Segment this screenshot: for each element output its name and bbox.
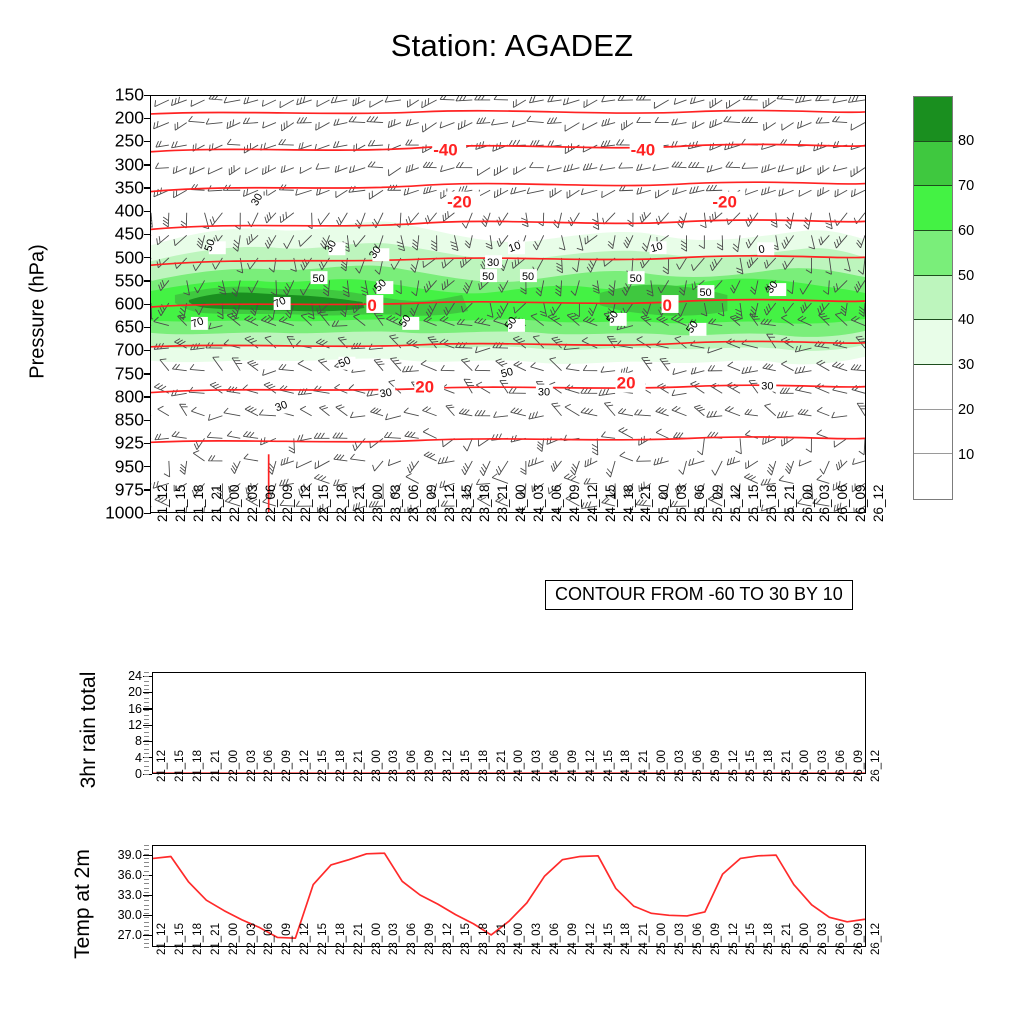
time-tick-label: 24_12 <box>585 923 597 955</box>
temperature-plot[interactable] <box>152 845 866 947</box>
sub-axis-minor-tick <box>144 866 149 867</box>
colorbar-tick-label: 20 <box>958 402 974 418</box>
time-tick-label: 25_00 <box>656 484 671 522</box>
sub-axis-minor-tick <box>144 858 149 859</box>
time-tick-label: 24_00 <box>513 923 525 955</box>
time-tick-label: 22_18 <box>335 750 347 782</box>
colorbar-band <box>914 320 952 365</box>
sub-axis-minor-tick <box>144 888 149 889</box>
time-tick-label: 26_00 <box>799 923 811 955</box>
colorbar-band <box>914 454 952 499</box>
time-tick-label: 21_12 <box>156 923 168 955</box>
sub-axis-tick <box>143 741 152 742</box>
pressure-tick-label: 500 <box>115 249 144 267</box>
pressure-tick-label: 700 <box>115 342 144 360</box>
sub-axis-minor-tick <box>144 732 149 733</box>
time-tick-label: 24_18 <box>620 750 632 782</box>
colorbar-labels: 8070605040302010 <box>958 96 1018 500</box>
time-tick-label: 26_09 <box>853 750 865 782</box>
time-tick-label: 22_03 <box>246 923 258 955</box>
sub-axis-minor-tick <box>144 710 149 711</box>
pressure-tick-label: 850 <box>115 411 144 429</box>
sub-axis-minor-tick <box>144 719 149 720</box>
sub-axis-tick-label: 27.0 <box>118 928 142 942</box>
time-tick-label: 24_00 <box>513 484 528 522</box>
time-tick-label: 23_06 <box>406 923 418 955</box>
time-tick-label: 25_00 <box>656 923 668 955</box>
time-tick-label: 24_12 <box>585 484 600 522</box>
pressure-tick <box>144 95 151 96</box>
time-tick-label: 23_03 <box>388 484 403 522</box>
pressure-tick <box>144 513 151 514</box>
time-tick-label: 21_15 <box>174 750 186 782</box>
time-tick-label: 25_15 <box>745 750 757 782</box>
pressure-tick-label: 550 <box>115 272 144 290</box>
sub-axis-minor-tick <box>144 934 149 935</box>
time-tick-label: 25_18 <box>763 923 775 955</box>
time-tick-label: 22_03 <box>246 750 258 782</box>
pressure-tick-label: 950 <box>115 458 144 476</box>
pressure-tick-label: 975 <box>115 481 144 499</box>
sub-axis-minor-tick <box>144 875 149 876</box>
time-tick-label: 26_00 <box>800 484 815 522</box>
svg-text:-20: -20 <box>712 192 736 211</box>
time-tick-label: 24_15 <box>603 750 615 782</box>
time-tick-label: 23_21 <box>495 484 510 522</box>
colorbar-tick-label: 50 <box>958 268 974 284</box>
rain-panel-title: 3hr rain total <box>77 637 101 823</box>
time-tick-label: 23_18 <box>478 923 490 955</box>
time-tick-label: 25_21 <box>781 750 793 782</box>
time-tick-label: 23_06 <box>406 484 421 522</box>
time-tick-label: 25_06 <box>692 484 707 522</box>
colorbar[interactable] <box>913 96 953 500</box>
time-tick-label: 25_12 <box>728 923 740 955</box>
time-tick-label: 25_03 <box>674 484 689 522</box>
sub-axis-minor-tick <box>144 715 149 716</box>
time-tick-label: 25_09 <box>710 923 722 955</box>
time-tick-label: 25_21 <box>781 923 793 955</box>
time-tick-label: 25_21 <box>782 484 797 522</box>
time-tick-label: 24_03 <box>531 484 546 522</box>
time-tick-label: 23_03 <box>388 750 400 782</box>
time-tick-label: 22_06 <box>263 923 275 955</box>
sub-axis-minor-tick <box>144 879 149 880</box>
contour-note-box: CONTOUR FROM -60 TO 30 BY 10 <box>545 580 853 610</box>
time-tick-label: 25_09 <box>710 484 725 522</box>
sub-axis-tick-label: 39.0 <box>118 848 142 862</box>
time-tick-label: 25_06 <box>692 750 704 782</box>
time-tick-label: 22_15 <box>316 484 331 522</box>
pressure-tick <box>144 234 151 235</box>
time-tick-label: 21_15 <box>173 484 188 522</box>
rain-plot[interactable] <box>152 672 866 774</box>
pressure-tick <box>144 118 151 119</box>
time-tick-label: 21_21 <box>210 750 222 782</box>
colorbar-band <box>914 410 952 455</box>
colorbar-band <box>914 186 952 231</box>
time-tick-label: 23_21 <box>496 750 508 782</box>
sub-axis-minor-tick <box>144 698 149 699</box>
sub-axis-minor-tick <box>144 749 149 750</box>
sub-axis-tick-label: 36.0 <box>118 868 142 882</box>
time-tick-label: 25_15 <box>745 923 757 955</box>
sub-axis-minor-tick <box>144 672 149 673</box>
time-tick-label: 26_00 <box>799 750 811 782</box>
time-tick-label: 22_09 <box>280 484 295 522</box>
time-tick-label: 24_03 <box>531 923 543 955</box>
pressure-tick <box>144 420 151 421</box>
time-tick-label: 21_18 <box>191 484 206 522</box>
sub-axis-minor-tick <box>144 926 149 927</box>
time-tick-label: 26_06 <box>835 923 847 955</box>
sub-axis-minor-tick <box>144 770 149 771</box>
time-tick-label: 23_15 <box>460 923 472 955</box>
colorbar-band <box>914 142 952 187</box>
sub-axis-minor-tick <box>144 917 149 918</box>
pressure-tick <box>144 187 151 188</box>
time-tick-label: 26_12 <box>871 484 886 522</box>
time-tick-label: 25_03 <box>674 750 686 782</box>
colorbar-band <box>914 276 952 321</box>
sub-axis-minor-tick <box>144 706 149 707</box>
time-tick-label: 25_00 <box>656 750 668 782</box>
colorbar-tick-label: 10 <box>958 447 974 463</box>
sub-axis-minor-tick <box>144 939 149 940</box>
sub-axis-tick <box>143 915 152 916</box>
colorbar-tick-label: 40 <box>958 312 974 328</box>
time-tick-label: 22_03 <box>245 484 260 522</box>
sub-axis-tick-label: 4 <box>135 751 142 765</box>
rain-x-axis-labels: 21_1221_1521_1821_2122_0022_0322_0622_09… <box>152 780 866 840</box>
sub-axis-minor-tick <box>144 736 149 737</box>
time-tick-label: 23_21 <box>496 923 508 955</box>
time-tick-label: 22_00 <box>227 484 242 522</box>
time-tick-label: 23_09 <box>424 923 436 955</box>
time-tick-label: 22_12 <box>299 923 311 955</box>
pressure-tick <box>144 373 151 374</box>
colorbar-band <box>914 231 952 276</box>
time-tick-label: 23_15 <box>459 484 474 522</box>
pressure-tick-label: 450 <box>115 226 144 244</box>
time-tick-label: 25_06 <box>692 923 704 955</box>
pressure-tick-label: 800 <box>115 388 144 406</box>
sub-axis-minor-tick <box>144 862 149 863</box>
time-tick-label: 24_21 <box>638 484 653 522</box>
pressure-tick <box>144 304 151 305</box>
temp-x-axis-labels: 21_1221_1521_1821_2122_0022_0322_0622_09… <box>152 953 866 1013</box>
svg-text:-40: -40 <box>631 141 655 160</box>
sub-axis-minor-tick <box>144 892 149 893</box>
time-tick-label: 25_12 <box>728 750 740 782</box>
sub-axis-minor-tick <box>144 681 149 682</box>
main-y-axis-title: Pressure (hPa) <box>27 182 50 442</box>
sub-axis-minor-tick <box>144 943 149 944</box>
main-x-axis-labels: 21_1221_1521_1821_2122_0022_0322_0622_09… <box>150 520 866 580</box>
colorbar-tick-label: 80 <box>958 133 974 149</box>
time-tick-label: 22_12 <box>298 484 313 522</box>
time-tick-label: 23_06 <box>406 750 418 782</box>
time-tick-label: 26_09 <box>853 484 868 522</box>
time-tick-label: 24_21 <box>638 750 650 782</box>
time-tick-label: 22_12 <box>299 750 311 782</box>
time-tick-label: 22_21 <box>353 923 365 955</box>
colorbar-tick-label: 70 <box>958 178 974 194</box>
sub-axis-tick <box>143 725 152 726</box>
sub-axis-minor-tick <box>144 766 149 767</box>
temp-panel-title: Temp at 2m <box>71 809 95 999</box>
time-tick-label: 24_06 <box>549 484 564 522</box>
time-tick-label: 22_09 <box>281 750 293 782</box>
time-tick-label: 23_00 <box>371 750 383 782</box>
sub-axis-tick <box>143 855 152 856</box>
pressure-tick <box>144 350 151 351</box>
time-tick-label: 26_06 <box>835 750 847 782</box>
time-tick-label: 22_00 <box>228 923 240 955</box>
sub-axis-minor-tick <box>144 922 149 923</box>
svg-text:-40: -40 <box>433 141 457 160</box>
time-tick-label: 22_18 <box>335 923 347 955</box>
time-tick-label: 26_03 <box>817 484 832 522</box>
sub-axis-minor-tick <box>144 845 149 846</box>
time-tick-label: 21_21 <box>209 484 224 522</box>
time-tick-label: 25_15 <box>746 484 761 522</box>
sub-axis-tick-label: 12 <box>128 718 142 732</box>
svg-text:20: 20 <box>617 374 636 393</box>
pressure-tick-label: 200 <box>115 109 144 127</box>
time-tick-label: 23_18 <box>478 750 490 782</box>
sub-axis-minor-tick <box>144 871 149 872</box>
time-tick-label: 22_09 <box>281 923 293 955</box>
time-tick-label: 23_12 <box>442 923 454 955</box>
sub-axis-tick-label: 0 <box>135 767 142 781</box>
time-tick-label: 21_12 <box>156 750 168 782</box>
sub-axis-minor-tick <box>144 883 149 884</box>
sub-axis-minor-tick <box>144 676 149 677</box>
time-tick-label: 25_09 <box>710 750 722 782</box>
time-tick-label: 26_09 <box>853 923 865 955</box>
sub-axis-minor-tick <box>144 896 149 897</box>
svg-text:0: 0 <box>367 296 376 315</box>
sub-axis-minor-tick <box>144 740 149 741</box>
time-tick-label: 24_03 <box>531 750 543 782</box>
time-tick-label: 23_09 <box>424 750 436 782</box>
pressure-tick-label: 350 <box>115 179 144 197</box>
time-tick-label: 22_00 <box>228 750 240 782</box>
time-tick-label: 23_15 <box>460 750 472 782</box>
sub-axis-minor-tick <box>144 757 149 758</box>
time-tick-label: 21_18 <box>192 750 204 782</box>
time-tick-label: 22_15 <box>317 923 329 955</box>
sub-axis-minor-tick <box>144 702 149 703</box>
time-tick-label: 21_12 <box>155 484 170 522</box>
rain-y-axis-labels: 04812162024 <box>100 672 142 774</box>
pressure-tick <box>144 257 151 258</box>
time-tick-label: 24_18 <box>620 923 632 955</box>
time-tick-label: 23_12 <box>442 484 457 522</box>
colorbar-tick-label: 60 <box>958 223 974 239</box>
sub-axis-tick-label: 20 <box>128 685 142 699</box>
time-tick-label: 22_21 <box>352 484 367 522</box>
time-tick-label: 25_12 <box>728 484 743 522</box>
sub-axis-minor-tick <box>144 849 149 850</box>
time-tick-label: 23_12 <box>442 750 454 782</box>
time-tick-label: 26_12 <box>870 750 882 782</box>
sub-axis-minor-tick <box>144 685 149 686</box>
colorbar-band <box>914 97 952 142</box>
pressure-tick-label: 400 <box>115 202 144 220</box>
page-title: Station: AGADEZ <box>0 28 1024 64</box>
time-tick-label: 22_15 <box>317 750 329 782</box>
sub-axis-tick-label: 30.0 <box>118 908 142 922</box>
time-tick-label: 22_21 <box>353 750 365 782</box>
sub-axis-minor-tick <box>144 947 149 948</box>
pressure-tick <box>144 164 151 165</box>
pressure-tick-label: 600 <box>115 295 144 313</box>
time-tick-label: 24_21 <box>638 923 650 955</box>
time-tick-label: 23_00 <box>371 923 383 955</box>
time-height-cross-section[interactable]: 30 50 30 30 30 10 10 0 50 50 50 50 50 50… <box>150 95 866 513</box>
time-tick-label: 22_18 <box>334 484 349 522</box>
time-tick-label: 24_12 <box>585 750 597 782</box>
time-tick-label: 25_18 <box>764 484 779 522</box>
time-tick-label: 24_09 <box>567 750 579 782</box>
time-tick-label: 23_03 <box>388 923 400 955</box>
pressure-tick <box>144 489 151 490</box>
time-tick-label: 24_18 <box>621 484 636 522</box>
time-tick-label: 24_15 <box>603 484 618 522</box>
time-tick-label: 24_06 <box>549 923 561 955</box>
sub-axis-minor-tick <box>144 913 149 914</box>
time-tick-label: 24_15 <box>603 923 615 955</box>
colorbar-band <box>914 365 952 410</box>
time-tick-label: 24_00 <box>513 750 525 782</box>
pressure-tick <box>144 211 151 212</box>
time-tick-label: 23_18 <box>477 484 492 522</box>
pressure-tick <box>144 443 151 444</box>
time-tick-label: 21_15 <box>174 923 186 955</box>
svg-text:-20: -20 <box>447 192 471 211</box>
sub-axis-minor-tick <box>144 761 149 762</box>
sub-axis-minor-tick <box>144 930 149 931</box>
time-tick-label: 25_03 <box>674 923 686 955</box>
pressure-tick-label: 250 <box>115 133 144 151</box>
pressure-tick <box>144 466 151 467</box>
pressure-tick-label: 750 <box>115 365 144 383</box>
sub-axis-minor-tick <box>144 909 149 910</box>
pressure-tick <box>144 141 151 142</box>
time-tick-label: 24_09 <box>567 923 579 955</box>
sub-axis-minor-tick <box>144 905 149 906</box>
sub-axis-tick-label: 24 <box>128 669 142 683</box>
sub-axis-minor-tick <box>144 727 149 728</box>
sub-axis-minor-tick <box>144 744 149 745</box>
isotherm-labels: -40 -40 -20 -20 0 0 20 20 <box>151 96 865 512</box>
time-tick-label: 23_09 <box>424 484 439 522</box>
sub-axis-minor-tick <box>144 753 149 754</box>
time-tick-label: 26_03 <box>817 923 829 955</box>
time-tick-label: 26_12 <box>870 923 882 955</box>
pressure-tick-label: 1000 <box>105 504 144 522</box>
sub-axis-tick-label: 16 <box>128 702 142 716</box>
temp-y-axis-labels: 27.030.033.036.039.0 <box>90 845 142 947</box>
sub-axis-minor-tick <box>144 900 149 901</box>
time-tick-label: 24_06 <box>549 750 561 782</box>
time-tick-label: 23_00 <box>370 484 385 522</box>
time-tick-label: 22_06 <box>263 750 275 782</box>
pressure-tick-label: 925 <box>115 435 144 453</box>
time-tick-label: 21_21 <box>210 923 222 955</box>
main-y-axis-labels: 1502002503003504004505005506006507007508… <box>60 95 144 513</box>
svg-text:20: 20 <box>415 378 434 397</box>
sub-axis-tick-label: 33.0 <box>118 888 142 902</box>
colorbar-tick-label: 30 <box>958 357 974 373</box>
pressure-tick-label: 150 <box>115 86 144 104</box>
sub-axis-minor-tick <box>144 689 149 690</box>
pressure-tick <box>144 327 151 328</box>
pressure-tick-label: 650 <box>115 318 144 336</box>
pressure-tick-label: 300 <box>115 156 144 174</box>
time-tick-label: 22_06 <box>263 484 278 522</box>
pressure-tick <box>144 396 151 397</box>
sub-axis-tick-label: 8 <box>135 734 142 748</box>
pressure-tick <box>144 280 151 281</box>
sub-axis-minor-tick <box>144 854 149 855</box>
sub-axis-minor-tick <box>144 693 149 694</box>
time-tick-label: 26_06 <box>835 484 850 522</box>
sub-axis-minor-tick <box>144 774 149 775</box>
svg-text:0: 0 <box>663 296 672 315</box>
time-tick-label: 21_18 <box>192 923 204 955</box>
time-tick-label: 26_03 <box>817 750 829 782</box>
time-tick-label: 24_09 <box>567 484 582 522</box>
time-tick-label: 25_18 <box>763 750 775 782</box>
sub-axis-minor-tick <box>144 723 149 724</box>
